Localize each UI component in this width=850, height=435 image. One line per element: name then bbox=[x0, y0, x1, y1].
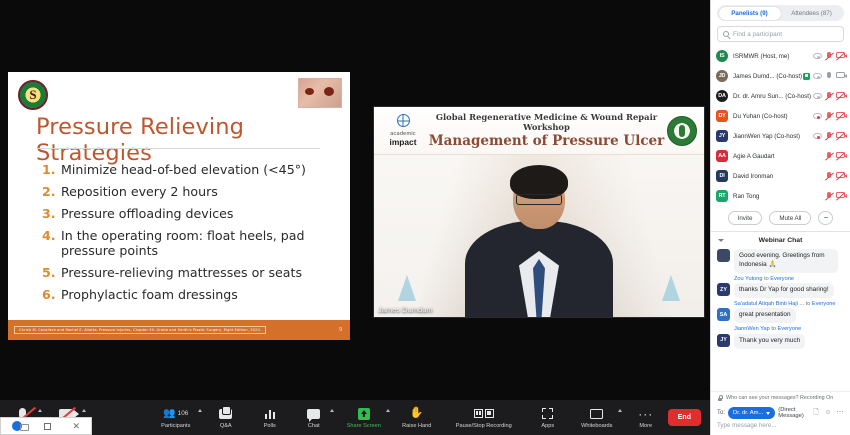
lock-icon bbox=[717, 395, 723, 401]
record-button[interactable]: Pause/Stop Recording bbox=[442, 400, 526, 435]
camera-icon[interactable] bbox=[836, 72, 845, 80]
microphone-muted-icon[interactable] bbox=[825, 52, 834, 60]
participant-name: Du Yuhan (Co-host) bbox=[733, 113, 813, 120]
raise-hand-label: Raise Hand bbox=[402, 423, 431, 429]
slide-list-item: Reposition every 2 hours bbox=[42, 184, 336, 199]
chat-icon bbox=[307, 409, 320, 419]
avatar: IS bbox=[716, 50, 728, 62]
speaker-figure bbox=[464, 167, 614, 317]
more-icon[interactable]: ⋯ bbox=[836, 409, 844, 417]
chat-header: Webinar Chat bbox=[711, 232, 850, 248]
slide-bullet-list: Minimize head-of-bed elevation (<45°) Re… bbox=[42, 162, 336, 309]
chat-privacy-note: Who can see your messages? Recording On bbox=[711, 391, 850, 404]
microphone-muted-icon[interactable] bbox=[825, 132, 834, 140]
microphone-muted-icon[interactable] bbox=[825, 152, 834, 160]
backdrop-arrow-right bbox=[662, 275, 680, 301]
participant-status-icons bbox=[825, 192, 846, 200]
slide-list-item: Minimize head-of-bed elevation (<45°) bbox=[42, 162, 336, 177]
apps-label: Apps bbox=[541, 423, 554, 429]
organization-seal-icon bbox=[667, 116, 697, 146]
search-icon bbox=[723, 31, 729, 37]
window-close-icon[interactable]: ✕ bbox=[73, 422, 81, 431]
avatar: JD bbox=[716, 70, 728, 82]
camera-off-icon[interactable] bbox=[836, 52, 845, 60]
chevron-up-icon[interactable] bbox=[618, 409, 622, 412]
qa-icon bbox=[219, 409, 232, 419]
backdrop-arrow-left bbox=[398, 275, 416, 301]
chat-bubble: Thank you very much bbox=[734, 334, 805, 349]
chat-sender: Zou Yutong bbox=[734, 276, 763, 282]
slide-list-item: Pressure offloading devices bbox=[42, 206, 336, 221]
ua-line2: impact bbox=[382, 138, 424, 147]
banner-text: Global Regenerative Medicine & Wound Rep… bbox=[424, 112, 667, 149]
chat-to-label: To: bbox=[717, 410, 725, 416]
tab-attendees[interactable]: Attendees (87) bbox=[781, 7, 843, 20]
chevron-down-icon bbox=[766, 412, 770, 415]
search-input[interactable] bbox=[733, 31, 838, 38]
share-screen-button[interactable]: Share Screen bbox=[336, 400, 392, 435]
chat-recipient-row: To: Dr. dr. Am... (Direct Message) 🗋 ☺ ⋯ bbox=[711, 404, 850, 421]
microphone-muted-icon[interactable] bbox=[825, 92, 834, 100]
meeting-stage: S Pressure Relieving Strategies Minimize… bbox=[0, 0, 710, 400]
participant-row[interactable]: DADr. dr. Amru Sun... (Co-host) bbox=[711, 86, 850, 106]
slide-org-logo: S bbox=[18, 80, 48, 110]
qa-button[interactable]: Q&A bbox=[204, 400, 248, 435]
eye-icon bbox=[813, 53, 822, 59]
chat-sender: Sa'adatul Atiqah Binti Haji ... bbox=[734, 301, 804, 307]
chat-message-meta: Sa'adatul Atiqah Binti Haji ... to Every… bbox=[717, 301, 844, 307]
end-button[interactable]: End bbox=[668, 409, 701, 426]
avatar: SA bbox=[717, 308, 730, 321]
banner-title: Management of Pressure Ulcer bbox=[426, 133, 667, 149]
slide-citation: Christi M. Cavaliere and Rachel E. Aliot… bbox=[14, 326, 266, 334]
slide-page-number: 9 bbox=[339, 327, 342, 333]
polls-label: Polls bbox=[264, 423, 276, 429]
avatar: DY bbox=[716, 110, 728, 122]
participant-name: Ran Tong bbox=[733, 193, 825, 200]
direct-message-label: (Direct Message) bbox=[778, 407, 809, 419]
share-screen-icon bbox=[358, 408, 370, 420]
share-label: Share Screen bbox=[347, 423, 381, 429]
speaker-video-tile[interactable]: academic impact Global Regenerative Medi… bbox=[373, 106, 705, 318]
participant-status-icons bbox=[813, 52, 845, 60]
file-icon[interactable]: 🗋 bbox=[812, 409, 820, 417]
camera-off-icon[interactable] bbox=[836, 112, 845, 120]
participant-status-icons bbox=[813, 92, 845, 100]
participant-more-button[interactable]: − bbox=[818, 211, 833, 225]
chat-recipient: Everyone bbox=[812, 301, 836, 307]
eye-icon bbox=[813, 93, 822, 99]
banner-subtitle: Global Regenerative Medicine & Wound Rep… bbox=[426, 112, 667, 132]
search-container bbox=[711, 24, 850, 46]
microphone-muted-icon[interactable] bbox=[825, 192, 834, 200]
participant-name: Dr. dr. Amru Sun... (Co-host) bbox=[733, 93, 813, 100]
screen-share-badge-icon bbox=[803, 73, 810, 80]
chevron-up-icon[interactable] bbox=[386, 409, 390, 412]
camera-off-icon[interactable] bbox=[836, 152, 845, 160]
tab-panelists[interactable]: Panelists (9) bbox=[719, 7, 781, 20]
participant-name: JiannWen Yap (Co-host) bbox=[733, 133, 813, 140]
record-label: Pause/Stop Recording bbox=[456, 423, 512, 429]
mute-all-button[interactable]: Mute All bbox=[769, 211, 811, 225]
participants-count: 106 bbox=[178, 410, 189, 417]
chat-input[interactable]: Type message here... bbox=[711, 421, 850, 435]
chat-recipient-name: Dr. dr. Am... bbox=[733, 410, 763, 416]
whiteboard-icon bbox=[590, 409, 603, 419]
camera-off-icon[interactable] bbox=[836, 172, 845, 180]
speaker-name-label: James Dumdum bbox=[378, 305, 433, 314]
window-controls[interactable]: ✕ bbox=[0, 417, 92, 435]
more-icon: ··· bbox=[638, 410, 653, 418]
avatar: AA bbox=[716, 150, 728, 162]
chat-to-label: to bbox=[770, 326, 778, 332]
zoom-webinar-window: S Pressure Relieving Strategies Minimize… bbox=[0, 0, 850, 435]
emoji-icon[interactable]: ☺ bbox=[824, 409, 832, 417]
pause-stop-recording-icon bbox=[474, 409, 494, 418]
participant-status-icons bbox=[825, 152, 846, 160]
camera-off-icon[interactable] bbox=[836, 132, 845, 140]
avatar: JY bbox=[716, 130, 728, 142]
video-feed bbox=[374, 155, 704, 317]
speaker-glasses bbox=[516, 194, 562, 205]
participant-row[interactable]: RTRan Tong bbox=[711, 186, 850, 206]
panel-tabs: Panelists (9) Attendees (87) bbox=[711, 0, 850, 24]
participant-actions: Invite Mute All − bbox=[711, 206, 850, 231]
globe-icon bbox=[397, 114, 410, 127]
qa-label: Q&A bbox=[220, 423, 232, 429]
microphone-muted-icon[interactable] bbox=[825, 172, 834, 180]
invite-button[interactable]: Invite bbox=[728, 211, 763, 225]
avatar bbox=[717, 249, 730, 262]
chevron-up-icon[interactable] bbox=[330, 409, 334, 412]
chat-message-meta: JiannWen Yap to Everyone bbox=[717, 326, 844, 332]
chevron-up-icon[interactable] bbox=[82, 409, 86, 412]
chat-to-label: to bbox=[804, 301, 812, 307]
avatar: RT bbox=[716, 190, 728, 202]
participants-label: Participants bbox=[161, 423, 190, 429]
slide-divider bbox=[38, 148, 320, 149]
eye-icon bbox=[813, 133, 822, 139]
shared-slide[interactable]: S Pressure Relieving Strategies Minimize… bbox=[8, 72, 350, 340]
camera-off-icon[interactable] bbox=[836, 192, 845, 200]
slide-title: Pressure Relieving Strategies bbox=[36, 114, 330, 166]
avatar: DI bbox=[716, 170, 728, 182]
participant-row[interactable]: JDJames Dumd... (Co-host) bbox=[711, 66, 850, 86]
participant-status-icons bbox=[813, 72, 845, 80]
chat-message-meta: Zou Yutong to Everyone bbox=[717, 276, 844, 282]
chat-bubble: thanks Dr Yap for good sharing! bbox=[734, 283, 834, 298]
chat-recipient-select[interactable]: Dr. dr. Am... bbox=[728, 407, 775, 419]
chat-recipient: Everyone bbox=[778, 326, 802, 332]
avatar: DA bbox=[716, 90, 728, 102]
participant-name: David Ironman bbox=[733, 173, 825, 180]
window-maximize-icon[interactable] bbox=[44, 423, 51, 430]
chat-actions: 🗋 ☺ ⋯ bbox=[812, 409, 844, 417]
slide-list-item: In the operating room: float heels, pad … bbox=[42, 228, 336, 259]
slide-footer: Christi M. Cavaliere and Rachel E. Aliot… bbox=[8, 320, 350, 340]
chat-message: Zou Yutong to EveryoneZYthanks Dr Yap fo… bbox=[717, 276, 844, 298]
chat-recipient: Everyone bbox=[770, 276, 794, 282]
chat-message: Sa'adatul Atiqah Binti Haji ... to Every… bbox=[717, 301, 844, 323]
slide-logo-letter: S bbox=[19, 81, 47, 109]
microphone-muted-icon[interactable] bbox=[825, 112, 834, 120]
un-academic-impact-logo: academic impact bbox=[382, 114, 424, 146]
chat-bubble: great presentation bbox=[734, 308, 796, 323]
chat-sender: JiannWen Yap bbox=[734, 326, 770, 332]
polls-icon bbox=[265, 408, 275, 419]
participant-name: Agie A Gaudart bbox=[733, 153, 825, 160]
apps-button[interactable]: Apps bbox=[526, 400, 570, 435]
participant-status-icons bbox=[813, 132, 845, 140]
eye-icon bbox=[813, 73, 822, 79]
chat-message: JiannWen Yap to EveryoneJYThank you very… bbox=[717, 326, 844, 348]
camera-off-icon[interactable] bbox=[836, 92, 845, 100]
participant-name: ISRMWR (Host, me) bbox=[733, 53, 813, 60]
participant-status-icons bbox=[825, 172, 846, 180]
chat-message-list[interactable]: Good evening. Greetings from Indonesia 🙏… bbox=[711, 248, 850, 391]
slide-list-item: Prophylactic foam dressings bbox=[42, 287, 336, 302]
meeting-toolbar: Unmute Start Video 👥 106 Participants Q&… bbox=[0, 400, 710, 435]
chat-message: Good evening. Greetings from Indonesia 🙏 bbox=[717, 249, 844, 273]
chat-bubble: Good evening. Greetings from Indonesia 🙏 bbox=[734, 249, 838, 273]
slide-wound-photo bbox=[298, 78, 342, 108]
window-restore-icon[interactable] bbox=[12, 421, 22, 431]
participants-chat-panel: Panelists (9) Attendees (87) ISISRMWR (H… bbox=[710, 0, 850, 435]
chevron-up-icon[interactable] bbox=[198, 409, 202, 412]
participants-button[interactable]: 👥 106 Participants bbox=[148, 400, 204, 435]
participant-row[interactable]: ISISRMWR (Host, me) bbox=[711, 46, 850, 66]
participant-row[interactable]: DIDavid Ironman bbox=[711, 166, 850, 186]
chat-note-text: Who can see your messages? Recording On bbox=[726, 395, 833, 401]
chat-button[interactable]: Chat bbox=[292, 400, 336, 435]
participant-name: James Dumd... (Co-host) bbox=[733, 73, 803, 80]
participant-status-icons bbox=[813, 112, 845, 120]
polls-button[interactable]: Polls bbox=[248, 400, 292, 435]
chevron-up-icon[interactable] bbox=[38, 409, 42, 412]
avatar: JY bbox=[717, 334, 730, 347]
participant-row[interactable]: AAAgie A Gaudart bbox=[711, 146, 850, 166]
chat-title: Webinar Chat bbox=[717, 237, 844, 244]
eye-icon bbox=[813, 113, 822, 119]
avatar: ZY bbox=[717, 283, 730, 296]
people-icon: 👥 bbox=[163, 408, 175, 419]
slide-list-item: Pressure-relieving mattresses or seats bbox=[42, 265, 336, 280]
participant-row[interactable]: JYJiannWen Yap (Co-host) bbox=[711, 126, 850, 146]
participant-row[interactable]: DYDu Yuhan (Co-host) bbox=[711, 106, 850, 126]
raise-hand-button[interactable]: ✋ Raise Hand bbox=[392, 400, 442, 435]
apps-icon bbox=[542, 408, 553, 419]
raise-hand-icon: ✋ bbox=[410, 408, 424, 419]
more-label: More bbox=[639, 423, 652, 429]
whiteboards-button[interactable]: Whiteboards bbox=[570, 400, 624, 435]
microphone-icon[interactable] bbox=[825, 72, 834, 80]
workshop-banner: academic impact Global Regenerative Medi… bbox=[374, 107, 704, 155]
chat-label: Chat bbox=[308, 423, 320, 429]
whiteboards-label: Whiteboards bbox=[581, 423, 612, 429]
more-button[interactable]: ··· More bbox=[624, 400, 668, 435]
chevron-down-icon[interactable] bbox=[718, 239, 724, 242]
participant-list[interactable]: ISISRMWR (Host, me)JDJames Dumd... (Co-h… bbox=[711, 46, 850, 206]
